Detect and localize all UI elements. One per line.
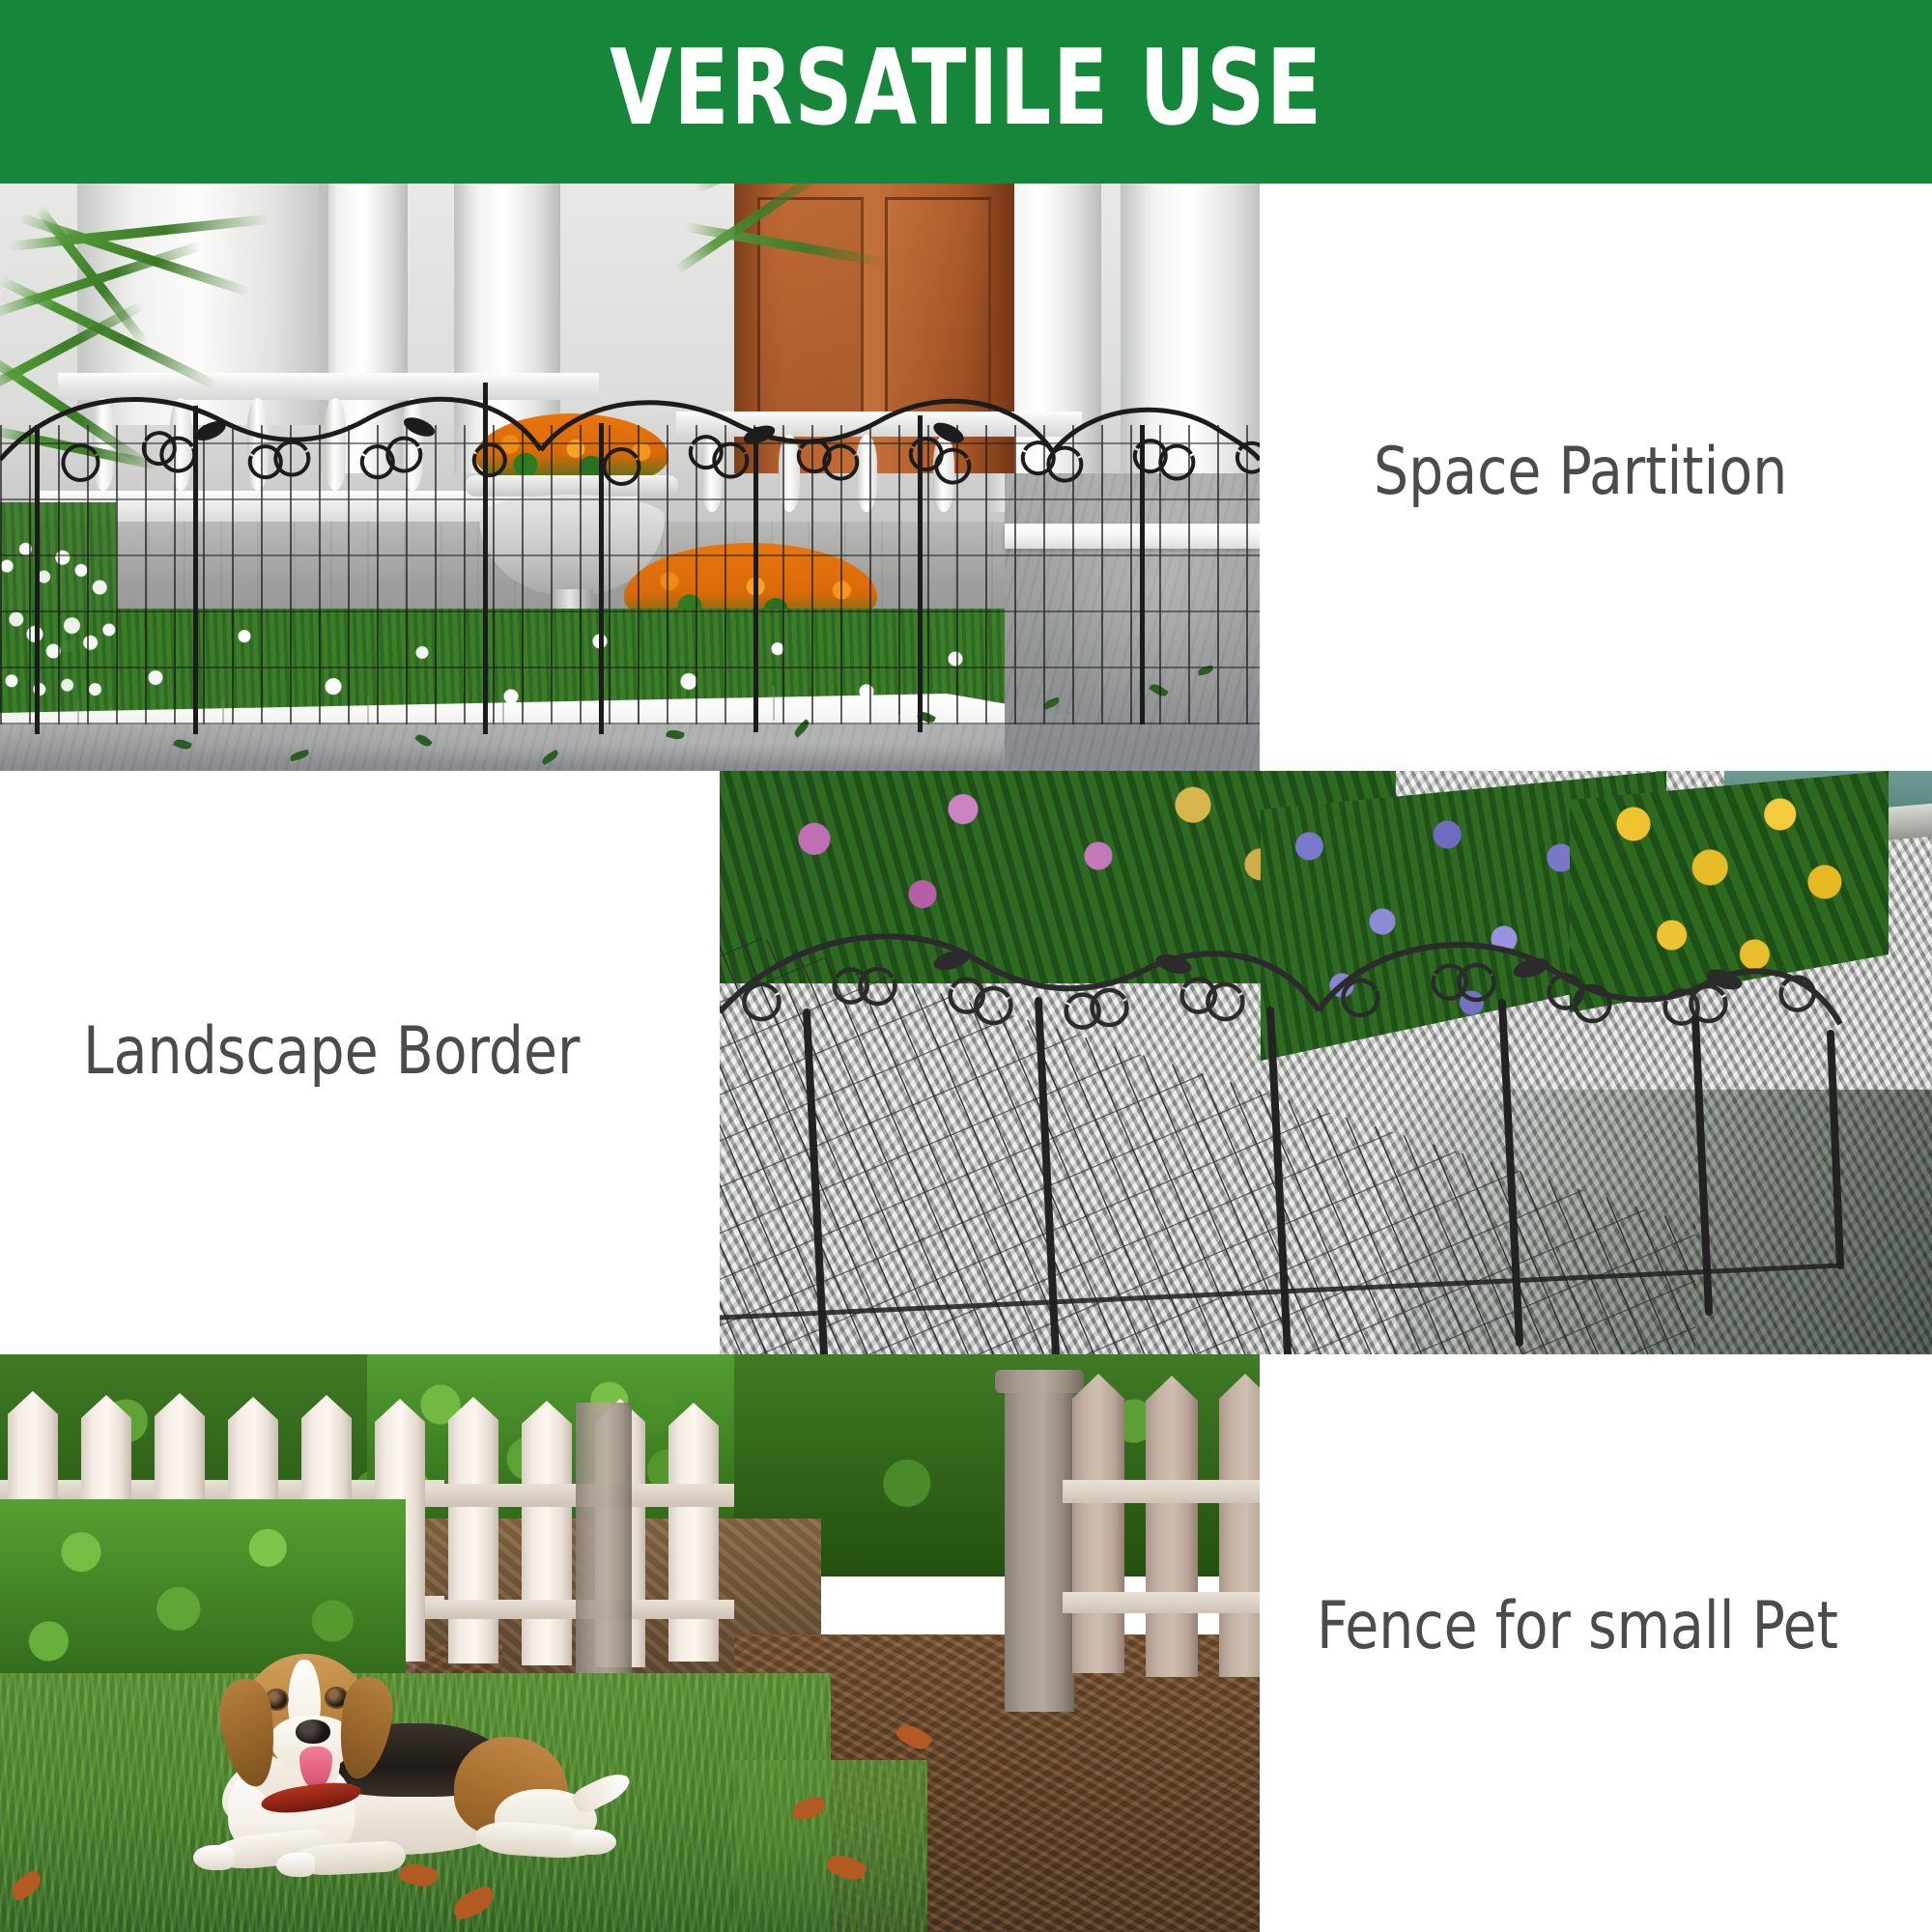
dog-hind-paw bbox=[572, 1830, 616, 1855]
caption-space-partition: Space Partition bbox=[1374, 440, 1787, 505]
gate-post bbox=[1005, 1383, 1074, 1712]
caption-landscape-border: Landscape Border bbox=[83, 1019, 580, 1085]
picket-board bbox=[1219, 1374, 1260, 1677]
panel-space-partition bbox=[0, 184, 1260, 771]
dog-nose bbox=[296, 1719, 330, 1744]
dog-front-paw bbox=[193, 1845, 234, 1870]
fence-rail bbox=[1063, 1592, 1260, 1613]
dog-tail bbox=[569, 1768, 634, 1817]
panel-fence-for-small-pet bbox=[0, 1354, 1260, 1932]
page-title: VERSATILE USE bbox=[610, 37, 1323, 147]
fence-rail bbox=[1063, 1480, 1260, 1503]
picket-board bbox=[668, 1403, 719, 1662]
picket-board bbox=[1146, 1376, 1198, 1677]
panel-landscape-border bbox=[720, 771, 1932, 1354]
wire-fence bbox=[720, 771, 1932, 1354]
palm-plant bbox=[676, 184, 908, 386]
fence-scrollwork bbox=[0, 363, 1260, 498]
picket-board bbox=[448, 1397, 498, 1663]
picket-board bbox=[1072, 1374, 1124, 1673]
dog-front-paw bbox=[276, 1853, 315, 1877]
lawn-grass bbox=[734, 1760, 927, 1932]
beagle-dog bbox=[135, 1644, 676, 1905]
header-banner: VERSATILE USE bbox=[0, 0, 1932, 184]
caption-fence-for-small-pet: Fence for small Pet bbox=[1317, 1594, 1838, 1660]
picket-board bbox=[522, 1401, 572, 1665]
gate-post-cap bbox=[995, 1370, 1084, 1393]
fence-svg bbox=[720, 771, 1932, 1354]
infographic-page: VERSATILE USE bbox=[0, 0, 1932, 1932]
